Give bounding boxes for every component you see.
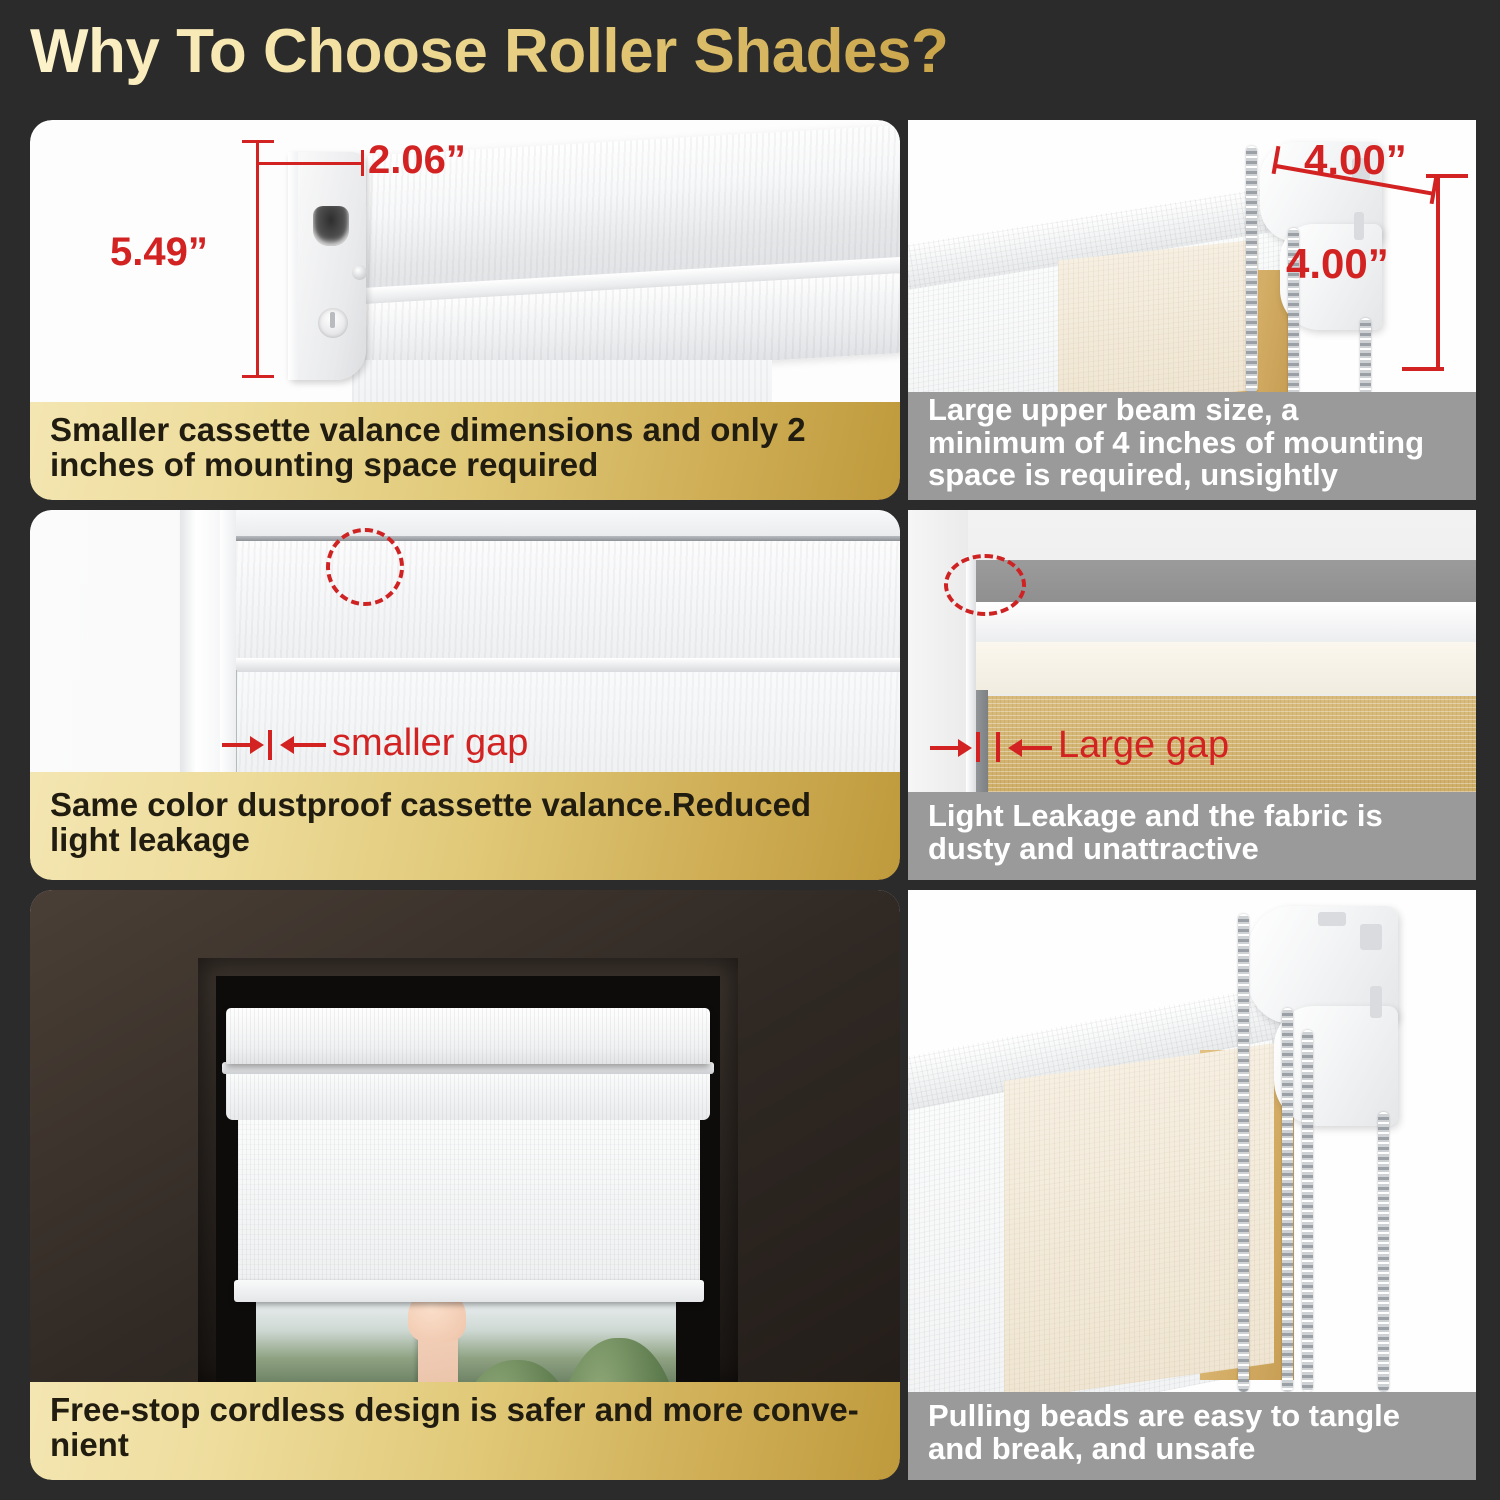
cassette-slot [313,206,349,246]
panel-bottom-right-con: Pulling beads are easy to tangle and bre… [908,890,1476,1480]
page-title: Why To Choose Roller Shades? [30,16,948,87]
height-dimension-line [256,140,259,378]
bracket-notch-top [1360,924,1382,950]
gap-marker-bar [268,730,272,760]
height-dimension-label: 5.49” [110,230,208,275]
valance-shadow [968,560,1476,608]
gap-label: smaller gap [332,722,528,765]
beam-height-label: 4.00” [1286,240,1389,288]
panel-middle-left-pro: smaller gap Same color dustproof cassett… [30,510,900,880]
photo-smaller-gap: smaller gap [30,510,900,772]
photo-large-beam: 4.00” 4.00” [908,120,1476,392]
bracket-notch-mid [1354,212,1364,240]
bottom-rail [234,1280,704,1302]
beam-height-tick-top [1426,174,1468,178]
panel-middle-right-con: Large gap Light Leakage and the fabric i… [908,510,1476,880]
caption-bottom-left: Free-stop cordless design is safer and m… [30,1382,900,1480]
caption-line-1: Light Leakage and the fabric is [928,800,1383,833]
window-header [236,510,900,538]
gap-marker-bar-right [996,732,1000,762]
caption-line-1: Smaller cassette valance dimensions and … [50,413,806,448]
cassette-fabric [352,360,772,402]
gap-arrow-left-head [250,736,264,754]
panel-top-left-pro: 2.06” 5.49” Smaller cassette valance dim… [30,120,900,500]
caption-line-2: nient [50,1428,859,1463]
caption-line-2: and break, and unsafe [928,1433,1400,1466]
gap-arrow-left-head [958,739,972,757]
caption-top-left: Smaller cassette valance dimensions and … [30,402,900,500]
gap-arrow-right-shaft [292,743,326,747]
caption-line-1: Pulling beads are easy to tangle [928,1400,1400,1433]
cassette-valance [226,1008,710,1064]
bracket-notch-mid [1370,986,1382,1018]
bracket-notch-side [1318,912,1346,926]
caption-middle-left: Same color dustproof cassette valance.Re… [30,772,900,880]
width-dimension-label: 2.06” [368,138,466,183]
caption-line-2: inches of mounting space required [50,448,806,483]
caption-line-1: Large upper beam size, a [928,394,1424,427]
bead-chain-mid [1282,1008,1293,1392]
photo-cordless-window [30,890,900,1382]
highlight-dashed-circle [326,528,404,606]
beam-height-tick-bottom [1402,367,1444,371]
panel-bottom-left-pro: Free-stop cordless design is safer and m… [30,890,900,1480]
width-tick-right [361,150,364,176]
beam-width-label: 4.00” [1304,136,1407,184]
bead-chain-right [1378,1112,1389,1392]
cassette-lower [226,1072,710,1120]
valance-cream [968,642,1476,694]
height-tick-bottom [242,375,274,378]
height-tick-top [242,140,274,143]
bead-chain-left [1246,146,1257,392]
width-dimension-line [256,162,364,165]
shade-fabric-cream [1004,1043,1274,1392]
caption-line-1: Free-stop cordless design is safer and m… [50,1393,859,1428]
bead-chain-left [1238,914,1249,1392]
caption-top-right: Large upper beam size, a minimum of 4 in… [908,392,1476,500]
photo-large-gap: Large gap [908,510,1476,792]
caption-middle-right: Light Leakage and the fabric is dusty an… [908,792,1476,880]
photo-cassette-dimensions: 2.06” 5.49” [30,120,900,402]
caption-line-1: Same color dustproof cassette valance.Re… [50,788,811,823]
cassette-screw [352,265,367,280]
beam-height-dimension-line [1436,174,1440,370]
photo-bead-chain-shade [908,890,1476,1392]
caption-line-2: minimum of 4 inches of mounting [928,427,1424,460]
window-frame-inner [220,510,236,772]
bead-chain-mid-2 [1302,1030,1313,1392]
panel-top-right-con: 4.00” 4.00” Large upper beam size, a min… [908,120,1476,500]
gap-marker-bar-left [976,732,980,762]
caption-line-2: dusty and unattractive [928,833,1383,866]
cassette-pin [318,308,348,338]
cassette-band-lip [236,658,900,672]
caption-line-3: space is required, unsightly [928,459,1424,492]
caption-line-2: light leakage [50,823,811,858]
shade-fabric-cream [1058,239,1258,392]
highlight-dashed-circle [944,554,1026,616]
window-view [256,1302,676,1382]
caption-bottom-right: Pulling beads are easy to tangle and bre… [908,1392,1476,1480]
tree-right [556,1338,676,1382]
tree-center [452,1360,582,1382]
bead-chain-right [1360,318,1371,392]
window-frame-outer [180,510,220,772]
gap-label: Large gap [1058,724,1229,767]
gap-arrow-right-shaft [1020,746,1052,750]
shade-fabric [238,1120,700,1285]
